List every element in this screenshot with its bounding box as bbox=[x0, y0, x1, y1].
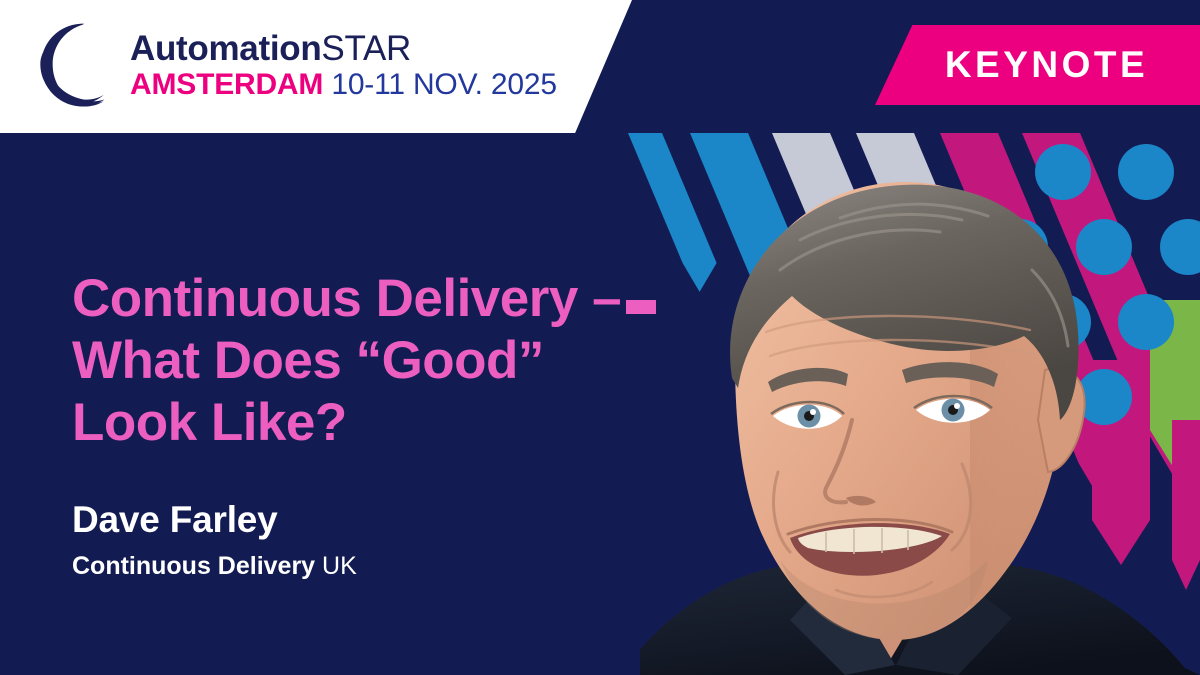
talk-title: Continuous Delivery – What Does “Good” L… bbox=[72, 268, 672, 454]
speaker-org-light: UK bbox=[322, 552, 357, 580]
speaker-org-bold: Continuous Delivery bbox=[72, 552, 315, 580]
keynote-badge-label: KEYNOTE bbox=[927, 44, 1148, 86]
speaker-name: Dave Farley bbox=[72, 498, 357, 542]
event-header: AutomationSTAR AMSTERDAM 10-11 NOV. 2025 bbox=[0, 0, 632, 133]
keynote-promo-slide: AutomationSTAR AMSTERDAM 10-11 NOV. 2025… bbox=[0, 0, 1200, 675]
automationstar-globe-logo bbox=[28, 22, 116, 110]
logo-star: STAR bbox=[321, 29, 411, 68]
keynote-badge: KEYNOTE bbox=[875, 25, 1200, 105]
speaker-portrait-dave-farley bbox=[640, 120, 1200, 675]
event-logo-location-date: AMSTERDAM 10-11 NOV. 2025 bbox=[130, 69, 557, 101]
talk-title-line-2: What Does “Good” bbox=[72, 330, 672, 392]
speaker-organization: Continuous Delivery UK bbox=[72, 551, 357, 581]
logo-automation: Automation bbox=[130, 29, 321, 68]
speaker-block: Dave Farley Continuous Delivery UK bbox=[72, 498, 357, 581]
logo-city: AMSTERDAM bbox=[130, 68, 323, 101]
logo-date: 10-11 NOV. 2025 bbox=[331, 68, 557, 101]
event-logo-name: AutomationSTAR bbox=[130, 31, 557, 68]
talk-title-line-3: Look Like? bbox=[72, 392, 672, 454]
event-logo-text: AutomationSTAR AMSTERDAM 10-11 NOV. 2025 bbox=[130, 31, 557, 100]
talk-title-line-1: Continuous Delivery – bbox=[72, 268, 672, 330]
